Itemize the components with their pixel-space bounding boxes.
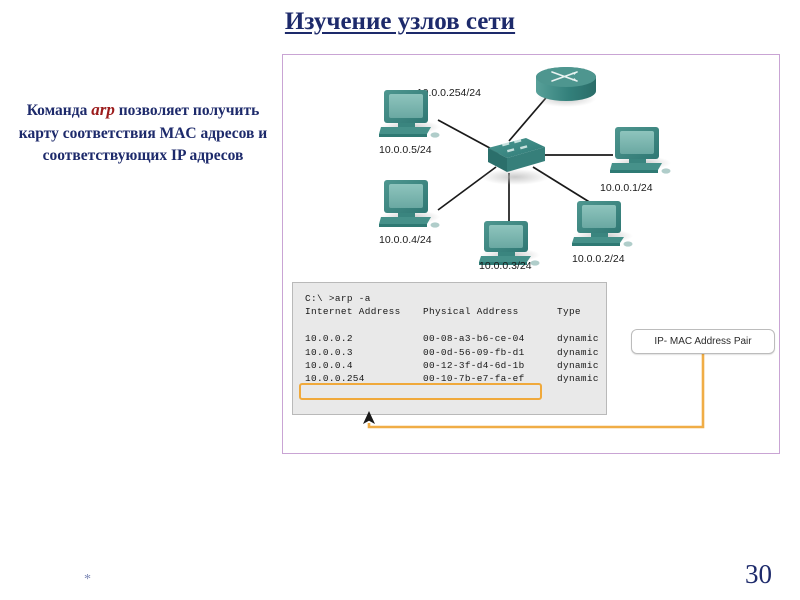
arp-row-ip: 10.0.0.3 (305, 346, 423, 359)
pc-label-2: 10.0.0.4/24 (379, 234, 432, 246)
arp-row-mac: 00-12-3f-d4-6d-1b (423, 359, 557, 372)
caption-before: Команда (27, 102, 92, 119)
callout-label: IP- MAC Address Pair (654, 336, 751, 347)
pc-label-3-visible: 10.0.0.3/24 (479, 260, 532, 270)
header-internet-address: Internet Address (305, 305, 423, 318)
pc-label-4: 10.0.0.2/24 (572, 253, 625, 265)
arp-output-terminal: C:\ >arp -a Internet AddressPhysical Add… (292, 282, 607, 415)
arp-table-row: 10.0.0.400-12-3f-d4-6d-1bdynamic (305, 359, 606, 372)
pc-icon-2 (379, 180, 440, 228)
arp-row-ip: 10.0.0.254 (305, 372, 423, 385)
arp-table-row-highlighted: 10.0.0.25400-10-7b-e7-fa-efdynamic (305, 372, 606, 385)
switch-icon (481, 138, 549, 185)
pc-label-1: 10.0.0.5/24 (379, 144, 432, 156)
terminal-blank-line (305, 319, 606, 332)
arp-row-mac: 00-10-7b-e7-fa-ef (423, 372, 557, 385)
arp-row-type: dynamic (557, 346, 599, 359)
arp-row-ip: 10.0.0.4 (305, 359, 423, 372)
router-icon (536, 67, 596, 107)
caption-keyword-arp: arp (91, 100, 115, 119)
terminal-prompt-line: C:\ >arp -a (305, 292, 606, 305)
figure-frame: 10.0.0.254/24 (282, 54, 780, 454)
arp-row-type: dynamic (557, 359, 599, 372)
pc-icon-3 (479, 221, 540, 266)
arp-row-mac: 00-08-a3-b6-ce-04 (423, 332, 557, 345)
arp-row-mac: 00-0d-56-09-fb-d1 (423, 346, 557, 359)
header-physical-address: Physical Address (423, 305, 557, 318)
header-type: Type (557, 305, 581, 318)
callout-ip-mac-pair: IP- MAC Address Pair (631, 329, 775, 354)
pc-icon-4 (572, 201, 633, 247)
arp-row-ip: 10.0.0.2 (305, 332, 423, 345)
terminal-header-row: Internet AddressPhysical AddressType (305, 305, 606, 318)
arp-table-row: 10.0.0.300-0d-56-09-fb-d1dynamic (305, 346, 606, 359)
pc-icon-5 (610, 127, 671, 174)
pc-label-5: 10.0.0.1/24 (600, 182, 653, 194)
page-number: 30 (745, 559, 772, 590)
arp-table-row: 10.0.0.200-08-a3-b6-ce-04dynamic (305, 332, 606, 345)
arp-row-type: dynamic (557, 332, 599, 345)
caption-text: Команда arp позволяет получить карту соо… (12, 98, 274, 168)
page-title: Изучение узлов сети (0, 8, 800, 36)
footer-marker: * (84, 572, 91, 588)
network-diagram: 10.0.0.254/24 (283, 55, 781, 270)
arp-row-type: dynamic (557, 372, 599, 385)
